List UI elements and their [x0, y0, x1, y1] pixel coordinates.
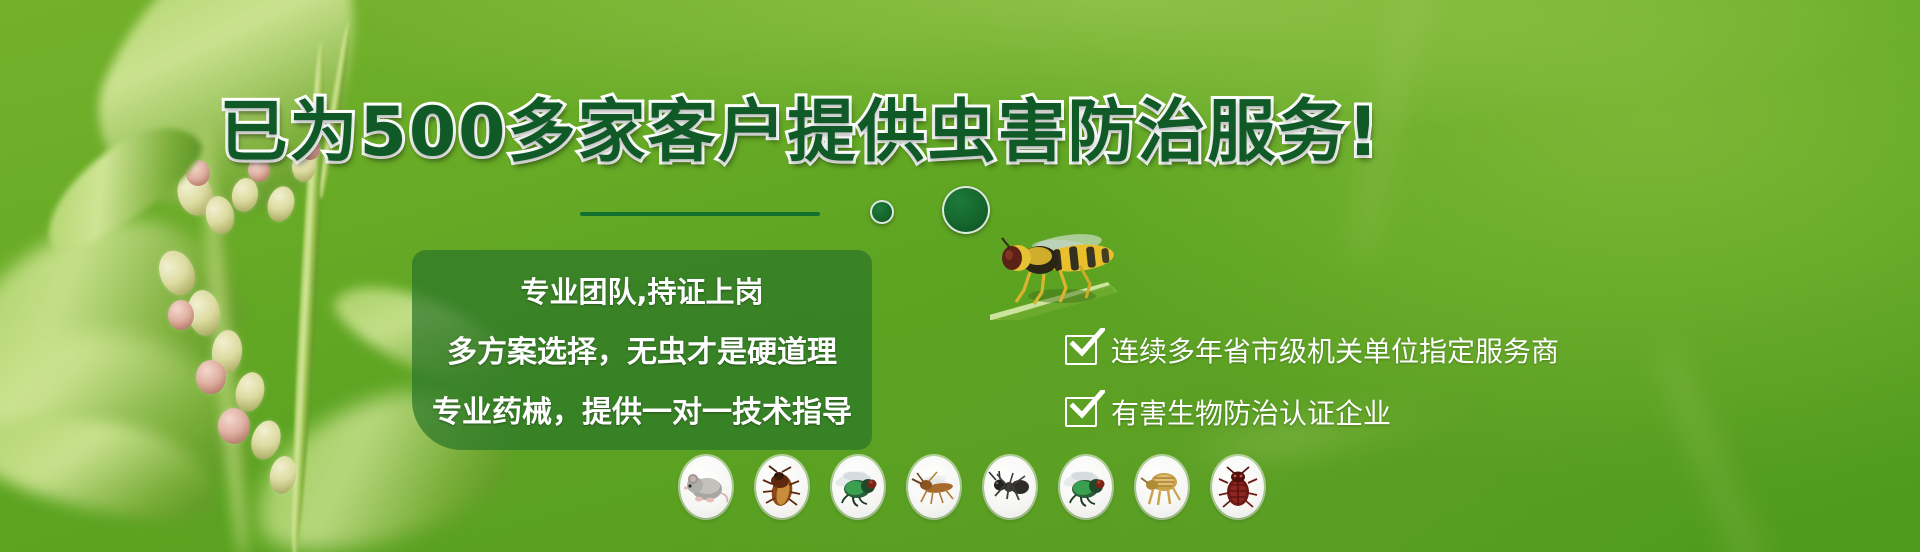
plant-bud	[168, 300, 194, 330]
flea-icon[interactable]	[1136, 456, 1188, 518]
bedbug-icon[interactable]	[1212, 456, 1264, 518]
page-title: 已为500多家客户提供虫害防治服务!	[0, 76, 1600, 175]
feature-line-3: 专业药械，提供一对一技术指导	[432, 387, 852, 431]
mouse-icon[interactable]	[680, 456, 732, 518]
mosquito-icon[interactable]	[908, 456, 960, 518]
horizontal-rule-icon	[580, 212, 820, 216]
checklist-item-label: 连续多年省市级机关单位指定服务商	[1111, 330, 1559, 370]
feature-line-1: 专业团队,持证上岗	[520, 269, 763, 311]
ant-icon[interactable]	[984, 456, 1036, 518]
housefly-icon[interactable]	[832, 456, 884, 518]
hoverfly-on-leaf-stem-icon	[990, 230, 1220, 320]
decorative-dot-large-icon	[942, 186, 990, 234]
checkbox-checked-icon	[1065, 335, 1097, 365]
plant-bud	[218, 408, 250, 444]
checklist-item-label: 有害生物防治认证企业	[1111, 392, 1391, 432]
blowfly-icon[interactable]	[1060, 456, 1112, 518]
certification-checklist: 连续多年省市级机关单位指定服务商 有害生物防治认证企业	[1065, 330, 1765, 454]
list-item: 有害生物防治认证企业	[1065, 392, 1765, 432]
promotional-banner: 已为500多家客户提供虫害防治服务! 已为500多家客户提供虫害防治服务! 专业…	[0, 0, 1920, 552]
checkbox-checked-icon	[1065, 397, 1097, 427]
list-item: 连续多年省市级机关单位指定服务商	[1065, 330, 1765, 370]
feature-highlight-text: 专业团队,持证上岗 多方案选择，无虫才是硬道理 专业药械，提供一对一技术指导	[412, 250, 872, 450]
plant-bud	[196, 360, 226, 394]
pest-type-icon-strip	[680, 456, 1264, 518]
cockroach-icon[interactable]	[756, 456, 808, 518]
feature-line-2: 多方案选择，无虫才是硬道理	[447, 327, 837, 371]
decorative-dot-small-icon	[870, 200, 894, 224]
